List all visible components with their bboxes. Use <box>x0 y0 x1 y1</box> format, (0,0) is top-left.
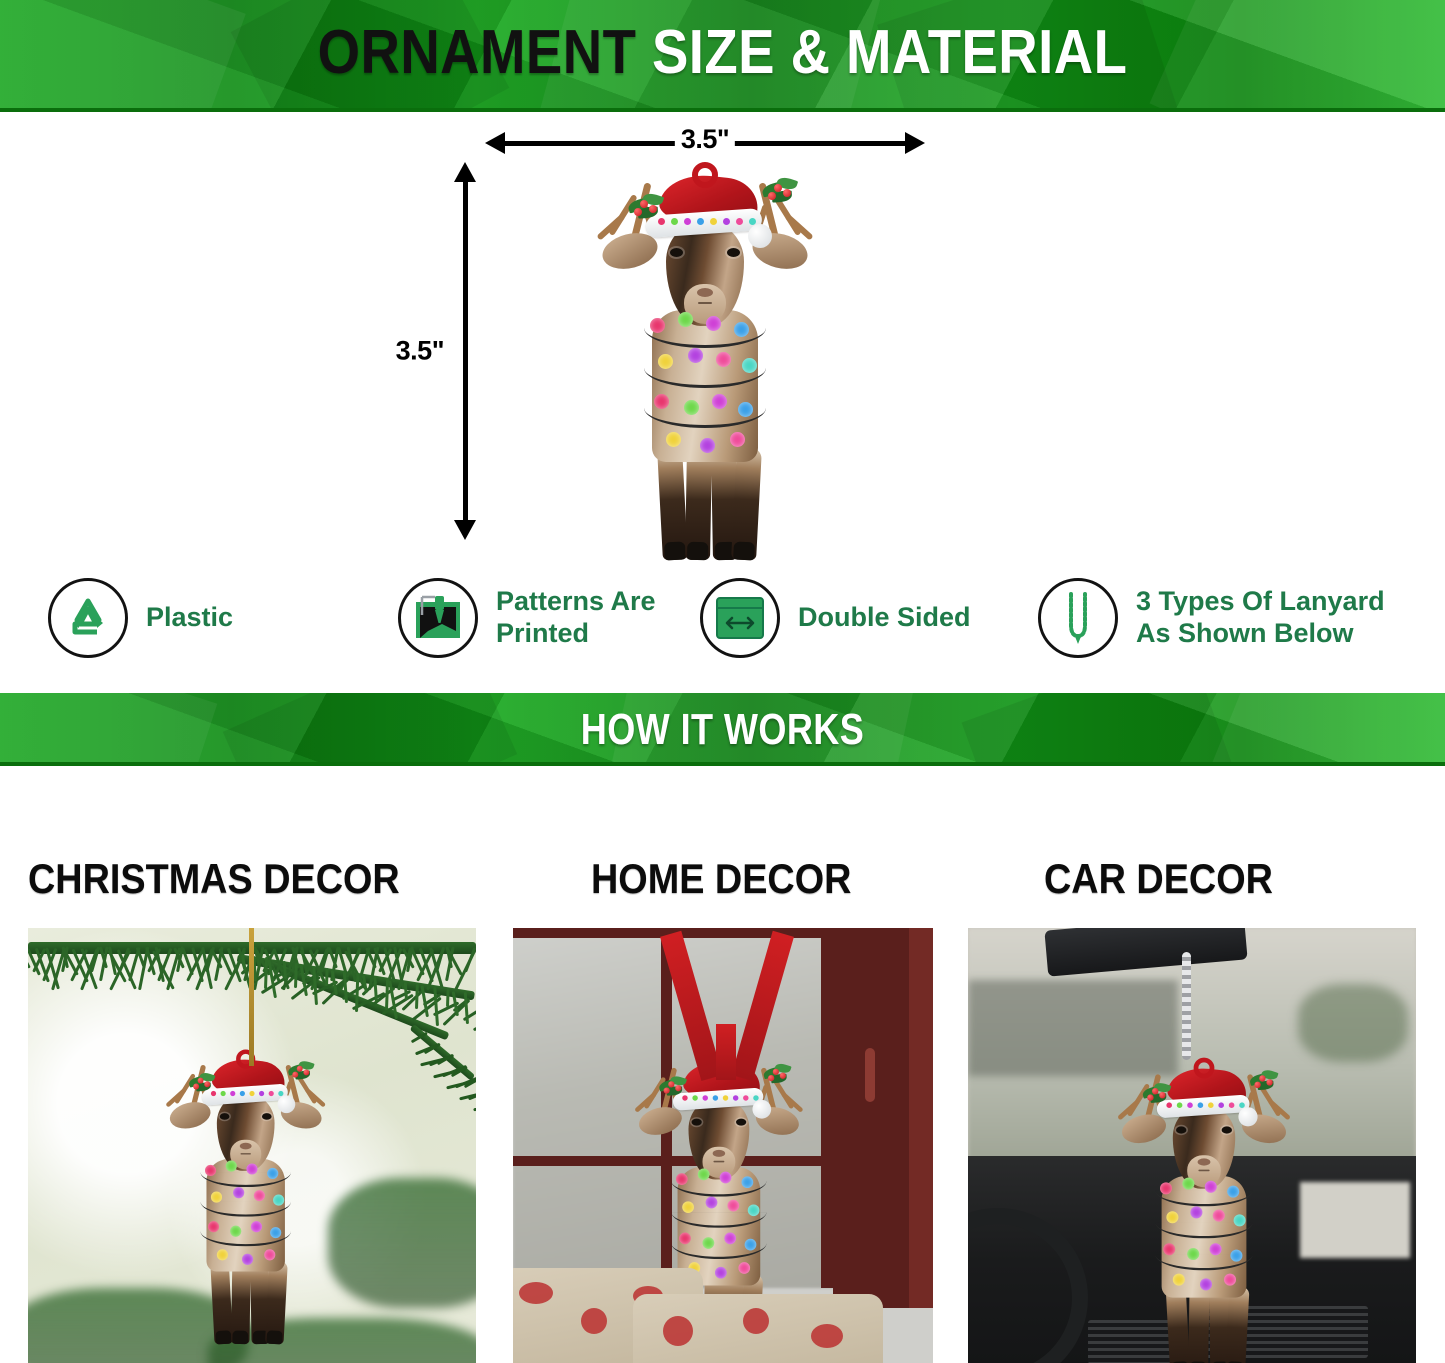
holly-sprig-left <box>189 1073 222 1092</box>
hat-light-bulb <box>230 1091 235 1096</box>
gallery-title: CAR DECOR <box>1044 858 1379 900</box>
light-bulb <box>1230 1250 1242 1262</box>
size-diagram-area: 3.5" 3.5" <box>0 112 1445 567</box>
window-handle-icon <box>865 1048 875 1102</box>
light-bulb <box>700 438 715 453</box>
banner-ornament-size-material: ORNAMENT SIZE & MATERIAL <box>0 0 1445 112</box>
hat-light-bulb <box>692 1095 697 1100</box>
ornament-on-tree <box>168 1048 323 1344</box>
light-bulb <box>698 1169 710 1181</box>
hat-light-bulb <box>671 218 678 225</box>
light-bulb <box>1213 1210 1225 1222</box>
window-jamb <box>909 928 933 1308</box>
light-bulb <box>666 432 681 447</box>
eye-right <box>727 248 740 257</box>
light-bulb <box>676 1173 688 1185</box>
window-sash <box>833 928 909 1308</box>
gallery-photo-home <box>513 928 933 1363</box>
holly-sprig-right <box>1250 1070 1276 1086</box>
string-lights <box>1155 1176 1253 1310</box>
string-lights <box>201 1159 291 1283</box>
light-bulb <box>1210 1243 1222 1255</box>
light-bulb <box>208 1221 219 1232</box>
light-bulb <box>267 1168 278 1179</box>
light-bulb <box>706 316 721 331</box>
holly-sprig-right <box>288 1061 312 1076</box>
hat-light-bulb <box>736 218 743 225</box>
feature-lanyard-types: 3 Types Of Lanyard As Shown Below <box>1038 578 1385 658</box>
light-bulb <box>720 1172 732 1184</box>
hat-light-bulb <box>1208 1102 1214 1108</box>
decorative-pillow <box>633 1294 883 1363</box>
light-bulb <box>205 1165 216 1176</box>
holly-sprig-right <box>763 1064 788 1080</box>
silver-ball-chain-lanyard <box>1182 952 1191 1060</box>
light-bulb <box>1205 1181 1217 1193</box>
recycle-icon <box>64 596 112 640</box>
light-bulb <box>1190 1206 1202 1218</box>
hat-light-bulb <box>259 1091 264 1096</box>
hanging-loop-icon <box>1194 1058 1215 1079</box>
hat-light-bulb <box>278 1091 283 1096</box>
light-bulb <box>211 1192 222 1203</box>
hat-light-bulb <box>1198 1102 1204 1108</box>
light-bulb <box>1173 1274 1185 1286</box>
light-bulb <box>1182 1178 1194 1190</box>
light-bulb <box>742 358 757 373</box>
red-ribbon-lanyard <box>716 1024 736 1080</box>
banner-how-it-works: HOW IT WORKS <box>0 693 1445 766</box>
width-label: 3.5" <box>675 124 735 155</box>
string-lights <box>644 310 766 478</box>
light-bulb <box>264 1249 275 1260</box>
feature-patterns-printed: Patterns Are Printed <box>398 578 656 658</box>
hat-light-bulb <box>733 1095 738 1100</box>
mouth <box>698 302 712 304</box>
holly-sprig-left <box>1142 1083 1177 1104</box>
title-part-size-material: SIZE & MATERIAL <box>652 18 1127 87</box>
light-bulb <box>738 402 753 417</box>
hat-light-bulb <box>1218 1102 1224 1108</box>
hat-light-bulb <box>703 1095 708 1100</box>
gallery-title: CHRISTMAS DECOR <box>28 858 431 900</box>
lanyard-icon <box>1055 591 1101 645</box>
eye-left <box>670 248 683 257</box>
light-bulb <box>1200 1278 1212 1290</box>
ornament-in-car <box>1120 1056 1288 1363</box>
feature-icon-circle <box>700 578 780 658</box>
light-bulb <box>273 1195 284 1206</box>
hat-light-bulb <box>1239 1102 1245 1108</box>
light-bulb <box>1187 1248 1199 1260</box>
light-bulb <box>654 394 669 409</box>
light-bulb <box>270 1227 281 1238</box>
hat-light-bulb <box>1187 1102 1193 1108</box>
nose <box>697 288 713 297</box>
feature-label: 3 Types Of Lanyard As Shown Below <box>1136 586 1385 650</box>
feature-icon-circle <box>48 578 128 658</box>
roadside-tree <box>1298 984 1408 1062</box>
hanging-loop-icon <box>692 162 718 188</box>
hat-light-bulb <box>697 218 704 225</box>
light-bulb <box>748 1204 760 1216</box>
how-it-works-gallery: CHRISTMAS DECOR <box>0 766 1445 1363</box>
light-bulb <box>706 1197 718 1209</box>
hat-light-bulb <box>684 218 691 225</box>
feature-plastic: Plastic <box>48 578 233 658</box>
light-bulb <box>650 318 665 333</box>
light-bulb <box>226 1160 237 1171</box>
double-sided-icon <box>714 595 766 641</box>
ornament-artwork <box>600 160 810 560</box>
light-bulb <box>1224 1274 1236 1286</box>
arrow-head-right-icon <box>905 132 925 154</box>
light-bulb <box>658 354 673 369</box>
gallery-item-christmas-decor: CHRISTMAS DECOR <box>28 766 476 1363</box>
light-bulb <box>251 1221 262 1232</box>
window-mullion <box>821 928 833 1288</box>
pine-needle <box>325 968 329 986</box>
holly-sprig-right <box>762 178 794 198</box>
feature-icon-circle <box>398 578 478 658</box>
product-infographic: ORNAMENT SIZE & MATERIAL 3.5" 3.5" <box>0 0 1445 1363</box>
light-bulb <box>1166 1211 1178 1223</box>
gallery-title: HOME DECOR <box>591 858 899 900</box>
holly-sprig-left <box>659 1077 693 1097</box>
feature-row: Plastic Patt <box>0 572 1445 690</box>
blurred-branch <box>328 1178 476 1308</box>
light-bulb <box>679 1233 691 1245</box>
title-part-ornament: ORNAMENT <box>318 18 637 87</box>
light-bulb <box>678 312 693 327</box>
pine-needle <box>446 989 450 1007</box>
light-bulb <box>233 1187 244 1198</box>
dimension-line <box>463 176 468 526</box>
light-bulb <box>703 1237 715 1249</box>
gallery-photo-christmas <box>28 928 476 1363</box>
hat-light-bulb <box>269 1091 274 1096</box>
light-bulb <box>254 1190 265 1201</box>
hat-light-bulb <box>249 1091 254 1096</box>
gallery-photo-car <box>968 928 1416 1363</box>
light-bulb <box>734 322 749 337</box>
height-dimension: 3.5" <box>452 162 478 540</box>
light-bulb <box>738 1262 750 1274</box>
hat-light-bulb <box>1229 1102 1235 1108</box>
hat-light-bulb <box>723 1095 728 1100</box>
light-bulb <box>715 1267 727 1279</box>
printer-icon <box>412 593 464 643</box>
hat-light-bulb <box>713 1095 718 1100</box>
hat-light-bulb <box>743 1095 748 1100</box>
page-title: ORNAMENT SIZE & MATERIAL <box>87 22 1359 84</box>
feature-label: Patterns Are Printed <box>496 586 656 650</box>
light-bulb <box>730 432 745 447</box>
light-bulb <box>230 1226 241 1237</box>
light-bulb <box>688 348 703 363</box>
gold-cord-lanyard <box>249 928 254 1066</box>
light-bulb <box>684 400 699 415</box>
light-bulb <box>727 1200 739 1212</box>
light-bulb <box>682 1201 694 1213</box>
arrow-head-down-icon <box>454 520 476 540</box>
light-bulb <box>716 352 731 367</box>
light-bulb <box>712 394 727 409</box>
gallery-item-home-decor: HOME DECOR <box>513 766 933 1363</box>
light-bulb <box>246 1163 257 1174</box>
feature-label: Plastic <box>146 602 233 634</box>
hat-light-bulb <box>710 218 717 225</box>
hat-light-bulb <box>749 218 756 225</box>
light-bulb <box>1163 1243 1175 1255</box>
feature-icon-circle <box>1038 578 1118 658</box>
light-bulb <box>217 1249 228 1260</box>
feature-label: Double Sided <box>798 602 971 634</box>
hat-light-bulb <box>221 1091 226 1096</box>
holly-sprig-left <box>628 194 672 220</box>
gallery-item-car-decor: CAR DECOR <box>968 766 1416 1363</box>
width-dimension: 3.5" <box>485 130 925 156</box>
light-bulb <box>742 1176 754 1188</box>
side-window <box>1300 1182 1410 1258</box>
hat-light-bulb <box>753 1095 758 1100</box>
light-bulb <box>1160 1182 1172 1194</box>
hat-light-bulb <box>240 1091 245 1096</box>
height-label: 3.5" <box>392 332 448 371</box>
light-bulb <box>1234 1214 1246 1226</box>
light-bulb <box>724 1233 736 1245</box>
hat-light-bulb <box>1177 1102 1183 1108</box>
light-bulb <box>745 1239 757 1251</box>
how-it-works-title: HOW IT WORKS <box>130 708 1315 752</box>
hat-light-bulb <box>723 218 730 225</box>
light-bulb <box>242 1254 253 1265</box>
light-bulb <box>1227 1186 1239 1198</box>
feature-double-sided: Double Sided <box>700 578 971 658</box>
